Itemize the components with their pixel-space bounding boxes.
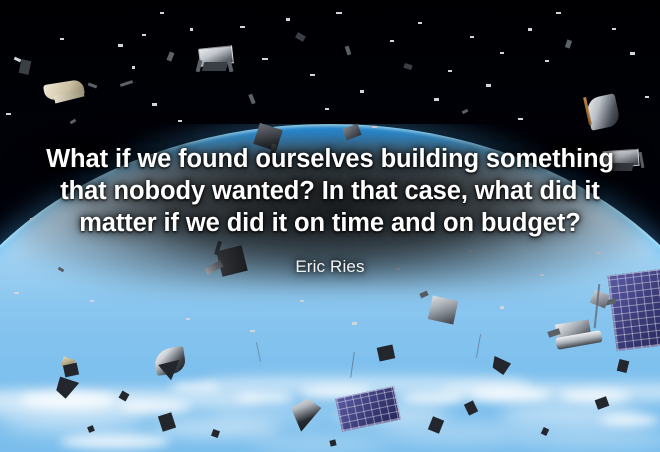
quote-text: What if we found ourselves building some… — [28, 143, 632, 239]
quote-block: What if we found ourselves building some… — [0, 143, 660, 277]
quote-image: What if we found ourselves building some… — [0, 0, 660, 452]
quote-author: Eric Ries — [28, 257, 632, 277]
